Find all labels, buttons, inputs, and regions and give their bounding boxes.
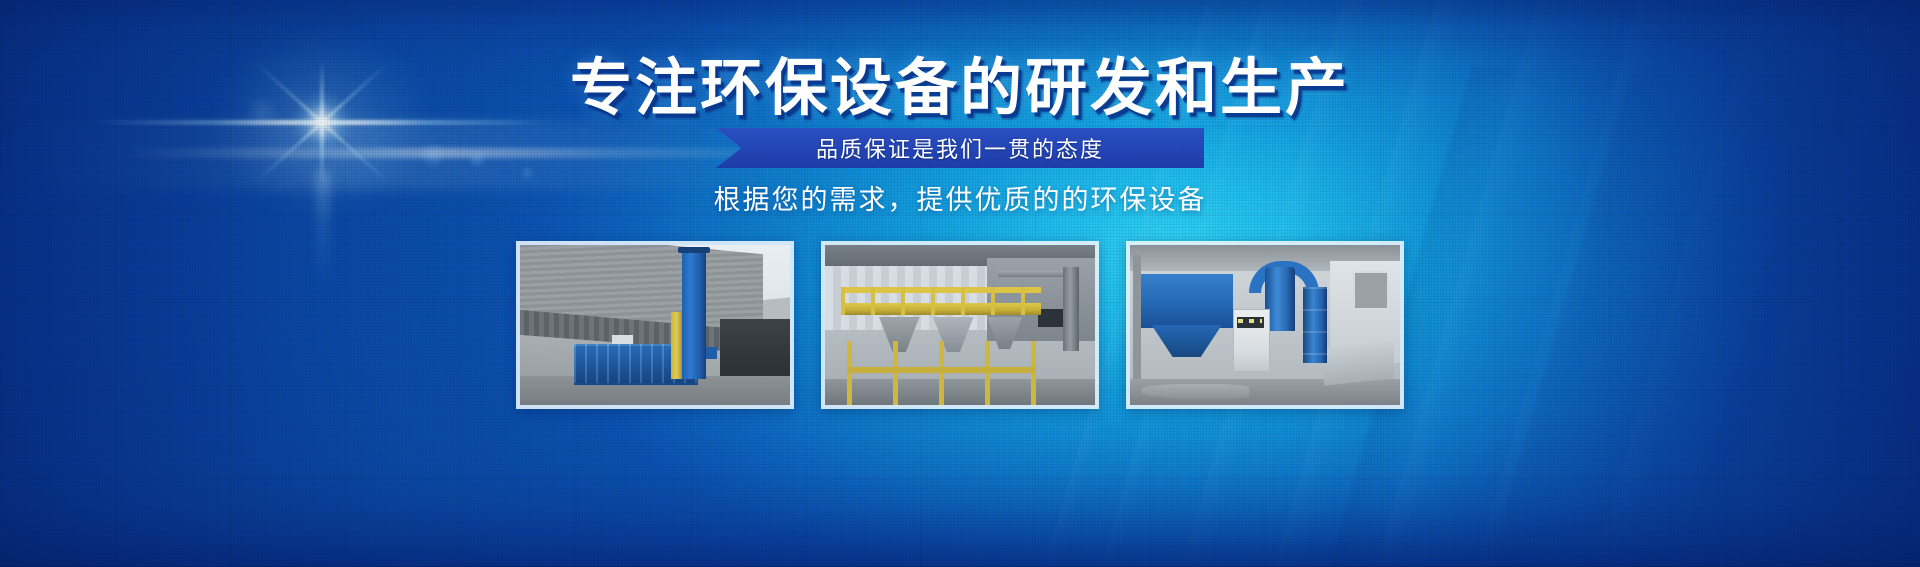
photo1-stack-cap [678, 247, 710, 253]
plant-yellow-railing-hoppers-image [825, 245, 1095, 405]
photo3-blue-hopper [1141, 274, 1233, 328]
photo2-pipe-vertical [1063, 267, 1079, 350]
photo3-duct-rings [1303, 287, 1327, 364]
factory-building-dust-collector-image [520, 245, 790, 405]
photo1-yellow-ladder [671, 312, 682, 379]
photo-thumbnail[interactable] [1126, 241, 1404, 409]
blue-cyclone-duct-control-cabinet-image [1130, 245, 1400, 405]
badge-container: 品质保证是我们一贯的态度 [0, 128, 1920, 168]
photo3-cabinet-indicator-lights [1238, 319, 1262, 323]
photo1-blue-stack [682, 248, 706, 379]
quality-badge-label: 品质保证是我们一贯的态度 [816, 132, 1104, 164]
photo3-window [1353, 271, 1389, 310]
photo-strip [0, 241, 1920, 409]
photo2-railing-posts [841, 287, 1041, 316]
photo2-cross-brace [847, 367, 1036, 373]
promotional-banner: 专注环保设备的研发和生产 品质保证是我们一贯的态度 根据您的需求，提供优质的的环… [0, 0, 1920, 567]
photo2-support-legs [847, 341, 1036, 405]
photo3-tank [1324, 341, 1394, 387]
photo3-floor-debris [1141, 384, 1249, 398]
photo-thumbnail[interactable] [516, 241, 794, 409]
banner-tagline: 根据您的需求，提供优质的的环保设备 [0, 178, 1920, 217]
banner-content: 专注环保设备的研发和生产 品质保证是我们一贯的态度 根据您的需求，提供优质的的环… [0, 0, 1920, 567]
banner-headline: 专注环保设备的研发和生产 [0, 58, 1920, 120]
photo2-equipment-box [1038, 309, 1062, 327]
photo3-post [1133, 255, 1141, 380]
quality-badge: 品质保证是我们一贯的态度 [716, 128, 1204, 168]
photo-thumbnail[interactable] [821, 241, 1099, 409]
